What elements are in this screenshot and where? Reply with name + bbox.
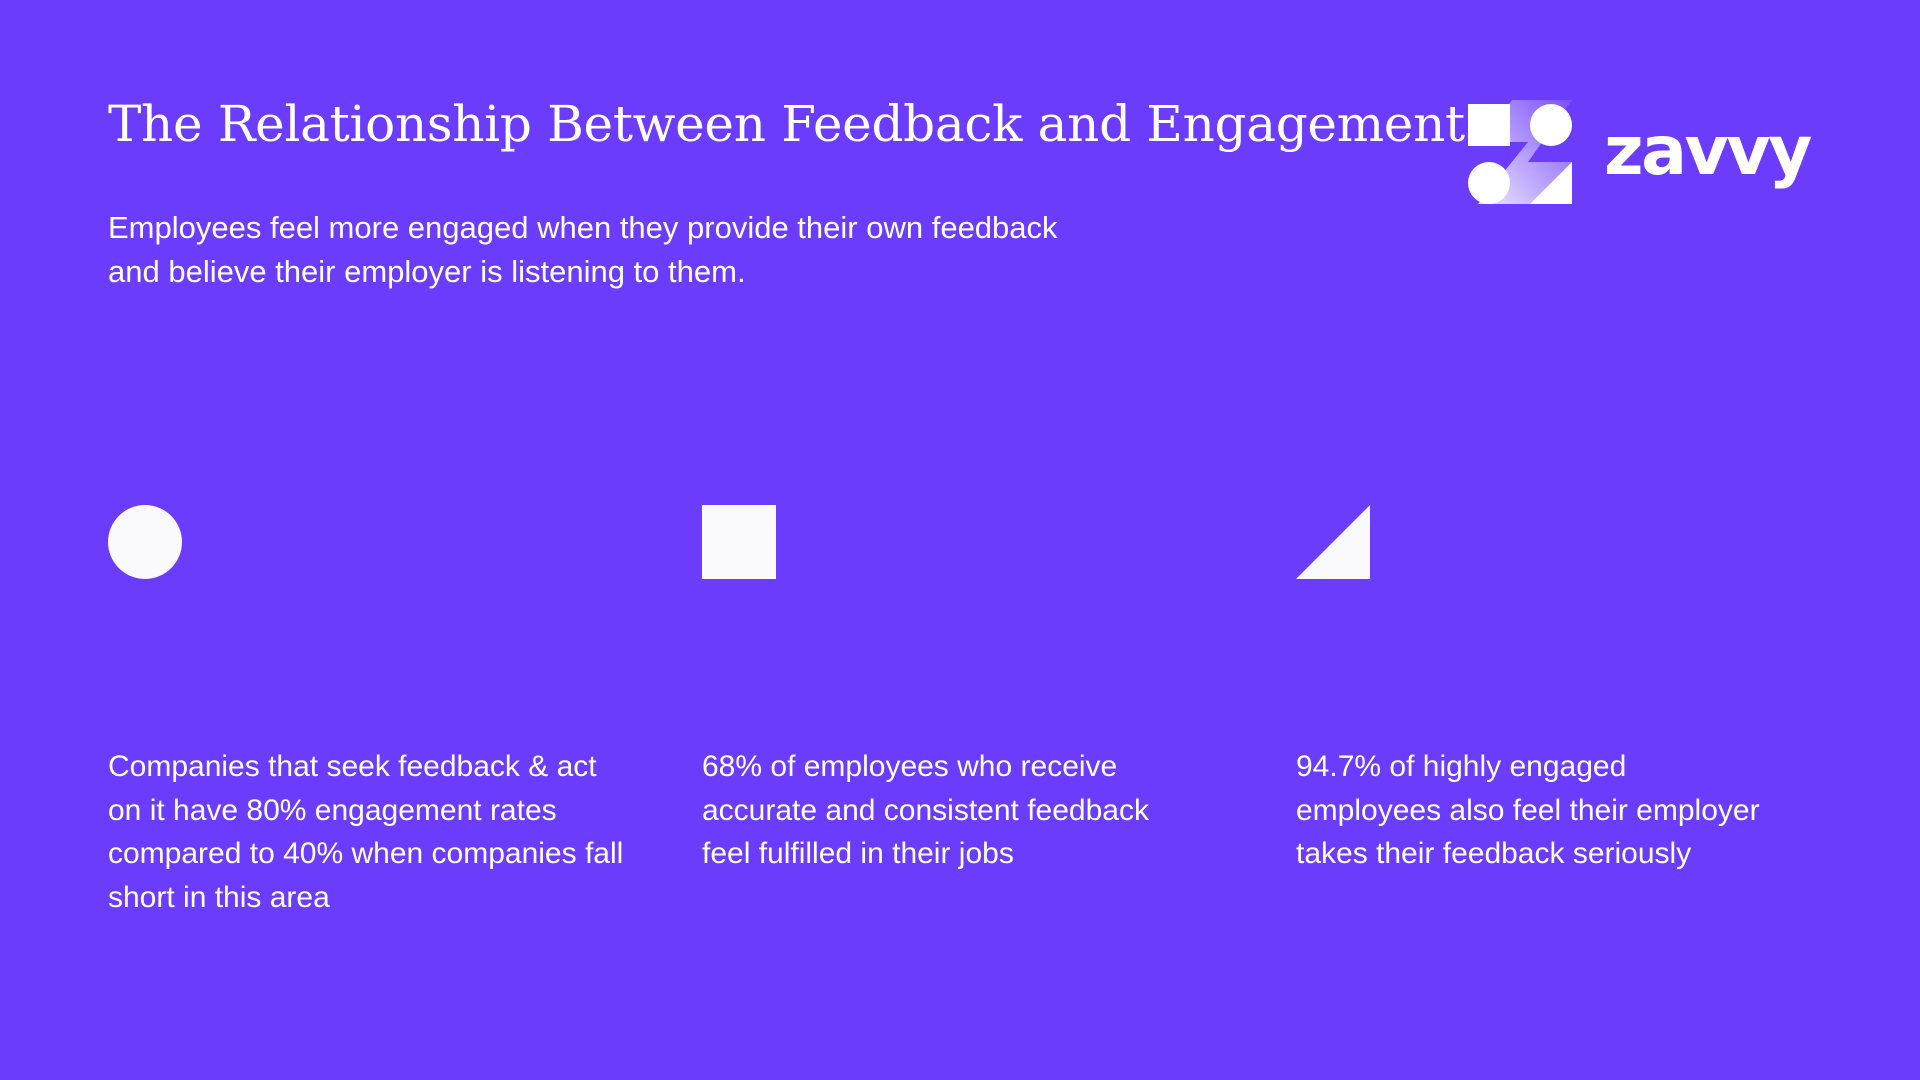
square-icon: [702, 505, 776, 579]
stat-text: Companies that seek feedback & act on it…: [108, 745, 628, 919]
brand-logo: zavvy: [1468, 100, 1810, 204]
zavvy-z-logo-icon: [1468, 100, 1572, 204]
page-title: The Relationship Between Feedback and En…: [108, 96, 1408, 152]
stat-column: Companies that seek feedback & act on it…: [108, 505, 702, 919]
brand-wordmark: zavvy: [1604, 118, 1810, 186]
infographic-canvas: The Relationship Between Feedback and En…: [0, 0, 1920, 1080]
circle-icon: [108, 505, 182, 579]
stat-text: 94.7% of highly engaged employees also f…: [1296, 745, 1766, 876]
stat-icon-circle-wrap: [108, 505, 702, 597]
stat-text: 68% of employees who receive accurate an…: [702, 745, 1157, 876]
page-subtitle: Employees feel more engaged when they pr…: [108, 206, 1318, 294]
subtitle-line-1: Employees feel more engaged when they pr…: [108, 206, 1318, 250]
stat-column: 94.7% of highly engaged employees also f…: [1296, 505, 1890, 919]
stat-icon-triangle-wrap: [1296, 505, 1890, 597]
stat-column: 68% of employees who receive accurate an…: [702, 505, 1296, 919]
stat-icon-square-wrap: [702, 505, 1296, 597]
triangle-icon: [1296, 505, 1370, 579]
subtitle-line-2: and believe their employer is listening …: [108, 250, 1318, 294]
stats-columns: Companies that seek feedback & act on it…: [108, 505, 1824, 919]
